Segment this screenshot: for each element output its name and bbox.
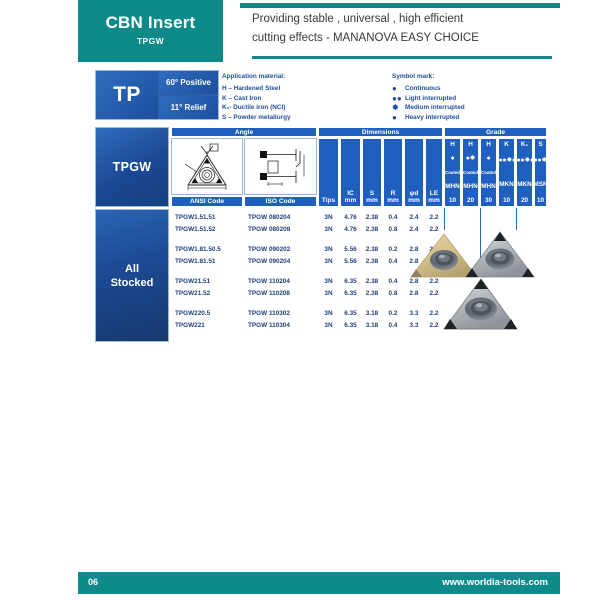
symbol-mark-legend: Symbol mark: ● Continuous ●● Light inter… xyxy=(392,72,465,123)
tagline: Providing stable , universal , high effi… xyxy=(252,10,552,48)
group-header-angle: Angle xyxy=(171,127,317,137)
application-material-legend: Application material: H – Hardened Steel… xyxy=(222,72,291,123)
legend-item: K – Cast Iron xyxy=(222,94,291,104)
grade-material: K xyxy=(504,141,509,148)
cell-le: 2.2 xyxy=(425,214,443,221)
grade-material: S xyxy=(538,141,542,148)
page-title: CBN Insert xyxy=(78,13,223,33)
grade-number: 10 xyxy=(503,197,510,204)
website-url[interactable]: www.worldia-tools.com xyxy=(442,577,548,588)
medium-interrupted-symbol-icon: ✸ xyxy=(392,103,405,113)
legend-item-label: Light interrupted xyxy=(405,94,456,104)
cell-phid: 3.3 xyxy=(404,310,424,317)
table-row: TPGW220.5 xyxy=(175,310,210,317)
table-row: TPGW 080204 xyxy=(248,214,290,221)
table-row: TPGW21.51 xyxy=(175,278,210,285)
cell-r: 0.8 xyxy=(383,290,403,297)
grade-coated-label: Coated xyxy=(463,170,478,175)
column-header-ic-unit: mm xyxy=(345,197,357,204)
grade-symbols-icon: ●●✸● xyxy=(517,157,533,164)
grade-symbols-icon: ●●✸● xyxy=(499,157,515,164)
column-header-ic-name: IC xyxy=(347,190,354,197)
column-header-r-name: R xyxy=(391,190,396,197)
grade-column-mkn10: K ●●✸● MKN 10 xyxy=(498,138,515,207)
cell-s: 2.38 xyxy=(362,226,382,233)
insert-side-view-diagram xyxy=(252,143,310,191)
legend-item: K₁- Ductile iron (NCI) xyxy=(222,103,291,113)
column-header-r: R mm xyxy=(383,138,403,207)
grade-name: MHN xyxy=(463,183,478,190)
grade-name: MKN xyxy=(517,181,532,188)
grade-name: MHN xyxy=(481,183,496,190)
column-header-phid-unit: mm xyxy=(408,197,420,204)
grade-column-mhn30: H ● Coated MHN 30 xyxy=(480,138,497,207)
grade-coated-label: Coated xyxy=(481,170,496,175)
cell-ic: 6.35 xyxy=(340,290,361,297)
cell-tips: 3N xyxy=(318,278,339,285)
cell-ic: 4.76 xyxy=(340,226,361,233)
grade-column-mhn10: H ● Coated MHN 10 xyxy=(444,138,461,207)
page-number: 06 xyxy=(88,577,98,587)
grade-name: MKN xyxy=(499,181,514,188)
grade-number: 30 xyxy=(485,197,492,204)
cell-ic: 5.56 xyxy=(340,246,361,253)
cell-phid: 2.8 xyxy=(404,290,424,297)
table-row: TPGW 110302 xyxy=(248,310,290,317)
grade-column-msn10: S ●●✸● MSN 10 xyxy=(534,138,547,207)
grade-number: 20 xyxy=(521,197,528,204)
cell-ic: 6.35 xyxy=(340,322,361,329)
table-row-label-all-stocked: AllStocked xyxy=(95,209,169,342)
heavy-interrupted-symbol-icon: ● xyxy=(392,113,405,123)
cell-r: 0.4 xyxy=(383,258,403,265)
iso-profile-drawing xyxy=(244,138,317,195)
cell-r: 0.4 xyxy=(383,322,403,329)
cell-tips: 3N xyxy=(318,246,339,253)
column-header-s-name: S xyxy=(370,190,374,197)
table-row: TPGW221 xyxy=(175,322,205,329)
tp-badge: TP 60° Positive 11° Relief xyxy=(95,70,219,120)
cell-tips: 3N xyxy=(318,226,339,233)
cell-r: 0.2 xyxy=(383,310,403,317)
column-header-le-name: LE xyxy=(430,190,438,197)
legend-item: H – Hardened Steel xyxy=(222,84,291,94)
column-header-s: S mm xyxy=(362,138,382,207)
application-material-title: Application material: xyxy=(222,72,291,82)
legend-item-label: Continuous xyxy=(405,84,441,94)
grade-symbols-icon: ● xyxy=(451,155,455,162)
cell-r: 0.4 xyxy=(383,214,403,221)
cell-tips: 3N xyxy=(318,322,339,329)
column-header-phid-name: φd xyxy=(410,190,419,197)
silver-insert-lower xyxy=(437,272,525,343)
table-row-label-tpgw: TPGW xyxy=(95,127,169,207)
grade-symbols-icon: ●✸ xyxy=(466,155,476,162)
symbol-mark-title: Symbol mark: xyxy=(392,72,465,82)
grade-material: H xyxy=(450,141,455,148)
legend-item-label: Medium interrupted xyxy=(405,103,465,113)
table-row: TPGW1.81.50.5 xyxy=(175,246,221,253)
column-header-le-unit: mm xyxy=(428,197,440,204)
tagline-line-1: Providing stable , universal , high effi… xyxy=(252,10,552,29)
footer-bar: 06 www.worldia-tools.com xyxy=(78,572,560,594)
tp-badge-relief: 11° Relief xyxy=(159,96,218,119)
group-header-dimensions: Dimensions xyxy=(318,127,443,137)
cell-r: 0.2 xyxy=(383,246,403,253)
legend-item-label: Heavy interrupted xyxy=(405,113,459,123)
cell-tips: 3N xyxy=(318,310,339,317)
continuous-symbol-icon: ● xyxy=(392,84,405,94)
tp-badge-code: TP xyxy=(96,71,158,119)
grade-column-mhn20: H ●✸ Coated MHN 20 xyxy=(462,138,479,207)
cell-ic: 4.76 xyxy=(340,214,361,221)
column-header-tips: Tips xyxy=(318,138,339,207)
catalog-page: CBN Insert TPGW Providing stable , unive… xyxy=(0,0,600,600)
legend-item: ● Continuous xyxy=(392,84,465,94)
column-header-phid: φd mm xyxy=(404,138,424,207)
cell-tips: 3N xyxy=(318,258,339,265)
grade-number: 10 xyxy=(449,197,456,204)
tagline-line-2: cutting effects - MANANOVA EASY CHOICE xyxy=(252,29,552,48)
grade-coated-label: Coated xyxy=(445,170,460,175)
cell-ic: 5.56 xyxy=(340,258,361,265)
column-header-tips-name: Tips xyxy=(322,197,335,204)
column-header-le: LE mm xyxy=(425,138,443,207)
legend-item: ●● Light interrupted xyxy=(392,94,465,104)
grade-name: MHN xyxy=(445,183,460,190)
grade-symbols-icon: ●●✸● xyxy=(534,157,548,164)
table-row: TPGW21.52 xyxy=(175,290,210,297)
cell-s: 2.38 xyxy=(362,214,382,221)
legend-item: S – Powder metallurgy xyxy=(222,113,291,123)
cell-s: 3.18 xyxy=(362,310,382,317)
cell-r: 0.8 xyxy=(383,226,403,233)
cell-phid: 3.3 xyxy=(404,322,424,329)
insert-top-view-diagram xyxy=(177,142,237,192)
cell-tips: 3N xyxy=(318,290,339,297)
table-row: TPGW 080208 xyxy=(248,226,290,233)
cell-s: 2.38 xyxy=(362,278,382,285)
column-header-iso-code: ISO Code xyxy=(244,196,317,207)
cell-s: 2.38 xyxy=(362,290,382,297)
column-header-ansi-code: ANSI Code xyxy=(171,196,243,207)
tp-badge-angle: 60° Positive xyxy=(159,71,218,94)
cell-ic: 6.35 xyxy=(340,310,361,317)
grade-column-mkn20: K₁ ●●✸● MKN 20 xyxy=(516,138,533,207)
all-stocked-text: AllStocked xyxy=(111,262,154,290)
column-header-s-unit: mm xyxy=(366,197,378,204)
tagline-underline xyxy=(252,56,552,59)
cell-phid: 2.4 xyxy=(404,214,424,221)
title-block: CBN Insert TPGW xyxy=(78,0,223,62)
column-header-r-unit: mm xyxy=(387,197,399,204)
grade-number: 10 xyxy=(537,197,544,204)
cell-s: 2.38 xyxy=(362,258,382,265)
legend-item: ✸ Medium interrupted xyxy=(392,103,465,113)
page-subtitle: TPGW xyxy=(78,36,223,46)
cell-s: 3.18 xyxy=(362,322,382,329)
grade-symbols-icon: ● xyxy=(487,155,491,162)
table-row: TPGW 110204 xyxy=(248,278,290,285)
grade-name: MSN xyxy=(533,181,547,188)
legend-item: ● Heavy interrupted xyxy=(392,113,465,123)
group-header-grade: Grade xyxy=(444,127,547,137)
table-row: TPGW 090204 xyxy=(248,258,290,265)
grade-material: H xyxy=(486,141,491,148)
table-row: TPGW1.51.52 xyxy=(175,226,216,233)
light-interrupted-symbol-icon: ●● xyxy=(392,94,405,104)
cell-tips: 3N xyxy=(318,214,339,221)
header-top-rule xyxy=(240,3,560,8)
table-row: TPGW1.51.51 xyxy=(175,214,216,221)
grade-material: K₁ xyxy=(521,141,528,148)
table-row: TPGW 090202 xyxy=(248,246,290,253)
cell-s: 2.38 xyxy=(362,246,382,253)
ansi-angle-drawing xyxy=(171,138,243,195)
cell-ic: 6.35 xyxy=(340,278,361,285)
table-row: TPGW1.81.51 xyxy=(175,258,216,265)
grade-number: 20 xyxy=(467,197,474,204)
table-row: TPGW 110304 xyxy=(248,322,290,329)
grade-material: H xyxy=(468,141,473,148)
column-header-ic: IC mm xyxy=(340,138,361,207)
table-row: TPGW 110208 xyxy=(248,290,290,297)
cell-r: 0.4 xyxy=(383,278,403,285)
